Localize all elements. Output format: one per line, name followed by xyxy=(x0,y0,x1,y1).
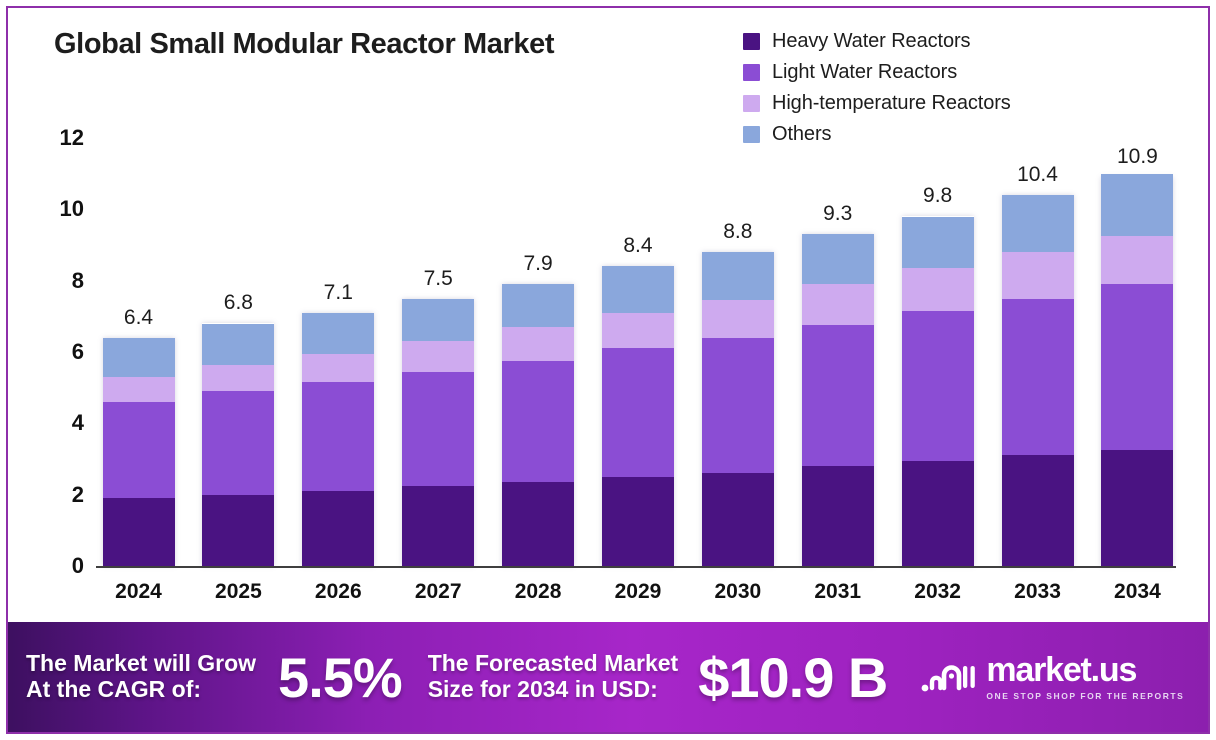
y-axis-tick-label: 4 xyxy=(72,410,84,436)
bar-segment[interactable] xyxy=(802,284,874,325)
legend-item-label: Light Water Reactors xyxy=(772,61,957,84)
bar-column[interactable]: 8.42029 xyxy=(599,138,676,566)
bar-segment[interactable] xyxy=(302,382,374,491)
x-axis-tick-label: 2027 xyxy=(415,580,462,604)
forecast-label-line2: Size for 2034 in USD: xyxy=(428,677,679,703)
bar-segment[interactable] xyxy=(1002,455,1074,566)
plot-area: 024681012 6.420246.820257.120267.520277.… xyxy=(100,138,1176,568)
bar-segment[interactable] xyxy=(1002,195,1074,252)
stacked-bar[interactable] xyxy=(802,234,874,566)
bar-value-label: 10.9 xyxy=(1117,145,1158,169)
bar-column[interactable]: 7.52027 xyxy=(400,138,477,566)
bar-segment[interactable] xyxy=(402,372,474,486)
market-us-logo-icon xyxy=(921,654,977,701)
bar-value-label: 8.8 xyxy=(723,220,752,244)
page-title: Global Small Modular Reactor Market xyxy=(54,28,554,61)
bar-column[interactable]: 8.82030 xyxy=(699,138,776,566)
y-axis-tick-label: 10 xyxy=(60,196,84,222)
bar-segment[interactable] xyxy=(602,348,674,476)
bar-segment[interactable] xyxy=(402,486,474,566)
bar-value-label: 9.3 xyxy=(823,202,852,226)
x-axis-tick-label: 2024 xyxy=(115,580,162,604)
x-axis-tick-label: 2028 xyxy=(515,580,562,604)
cagr-label-line1: The Market will Grow xyxy=(26,651,256,677)
bar-segment[interactable] xyxy=(1101,284,1173,450)
bar-column[interactable]: 9.82032 xyxy=(899,138,976,566)
bar-segment[interactable] xyxy=(202,324,274,365)
legend-item-label: Heavy Water Reactors xyxy=(772,30,970,53)
infographic-page: Global Small Modular Reactor Market Heav… xyxy=(6,6,1210,734)
cagr-value: 5.5% xyxy=(278,645,402,710)
bar-value-label: 7.1 xyxy=(324,281,353,305)
bar-value-label: 6.8 xyxy=(224,291,253,315)
bar-segment[interactable] xyxy=(702,473,774,566)
x-axis-line xyxy=(96,566,1176,568)
bar-segment[interactable] xyxy=(602,266,674,312)
stacked-bar[interactable] xyxy=(902,216,974,566)
legend-swatch-icon xyxy=(743,33,760,50)
bar-segment[interactable] xyxy=(702,338,774,474)
chart-area: Global Small Modular Reactor Market Heav… xyxy=(8,8,1208,622)
x-axis-tick-label: 2025 xyxy=(215,580,262,604)
bar-segment[interactable] xyxy=(502,284,574,327)
legend-item[interactable]: Heavy Water Reactors xyxy=(743,30,1011,52)
bar-segment[interactable] xyxy=(502,482,574,566)
x-axis-tick-label: 2026 xyxy=(315,580,362,604)
bar-segment[interactable] xyxy=(202,495,274,566)
bar-column[interactable]: 10.42033 xyxy=(999,138,1076,566)
stacked-bar[interactable] xyxy=(502,284,574,566)
bar-segment[interactable] xyxy=(802,325,874,466)
chart-legend: Heavy Water ReactorsLight Water Reactors… xyxy=(743,30,1011,145)
x-axis-tick-label: 2032 xyxy=(914,580,961,604)
bar-value-label: 8.4 xyxy=(623,234,652,258)
market-us-logo: market.us ONE STOP SHOP FOR THE REPORTS xyxy=(921,653,1184,701)
x-axis-tick-label: 2031 xyxy=(814,580,861,604)
stacked-bar[interactable] xyxy=(402,299,474,567)
bar-segment[interactable] xyxy=(902,268,974,311)
y-axis-tick-label: 0 xyxy=(72,553,84,579)
bar-segment[interactable] xyxy=(1002,299,1074,456)
bar-column[interactable]: 7.12026 xyxy=(300,138,377,566)
bar-segment[interactable] xyxy=(502,361,574,482)
y-axis-tick-label: 8 xyxy=(72,268,84,294)
bar-segment[interactable] xyxy=(602,313,674,349)
bar-segment[interactable] xyxy=(302,313,374,354)
bar-segment[interactable] xyxy=(702,300,774,337)
bar-segment[interactable] xyxy=(802,466,874,566)
forecast-label: The Forecasted Market Size for 2034 in U… xyxy=(428,651,679,703)
stacked-bar[interactable] xyxy=(1101,177,1173,566)
bar-value-label: 9.8 xyxy=(923,184,952,208)
bar-segment[interactable] xyxy=(103,338,175,377)
x-axis-tick-label: 2029 xyxy=(615,580,662,604)
stacked-bar[interactable] xyxy=(702,252,774,566)
legend-item[interactable]: Light Water Reactors xyxy=(743,61,1011,83)
bar-segment[interactable] xyxy=(202,391,274,494)
cagr-label-line2: At the CAGR of: xyxy=(26,677,256,703)
forecast-value: $10.9 B xyxy=(698,645,887,710)
legend-swatch-icon xyxy=(743,95,760,112)
y-axis-tick-label: 12 xyxy=(60,125,84,151)
bar-column[interactable]: 6.42024 xyxy=(100,138,177,566)
y-axis-tick-label: 6 xyxy=(72,339,84,365)
bar-segment[interactable] xyxy=(902,461,974,566)
logo-text: market.us ONE STOP SHOP FOR THE REPORTS xyxy=(986,653,1184,701)
bar-segment[interactable] xyxy=(602,477,674,566)
bar-segment[interactable] xyxy=(402,341,474,371)
bar-segment[interactable] xyxy=(1002,252,1074,298)
bar-segment[interactable] xyxy=(202,365,274,392)
bar-column[interactable]: 6.82025 xyxy=(200,138,277,566)
bar-segment[interactable] xyxy=(302,491,374,566)
bar-segment[interactable] xyxy=(302,354,374,383)
bar-value-label: 10.4 xyxy=(1017,163,1058,187)
bar-segment[interactable] xyxy=(902,217,974,269)
stacked-bar[interactable] xyxy=(1002,195,1074,566)
logo-tagline: ONE STOP SHOP FOR THE REPORTS xyxy=(986,691,1184,701)
forecast-label-line1: The Forecasted Market xyxy=(428,651,679,677)
bar-value-label: 7.5 xyxy=(424,267,453,291)
bar-group: 6.420246.820257.120267.520277.920288.420… xyxy=(100,138,1176,566)
x-axis-tick-label: 2030 xyxy=(714,580,761,604)
bar-segment[interactable] xyxy=(802,234,874,284)
bar-column[interactable]: 10.92034 xyxy=(1099,138,1176,566)
bar-segment[interactable] xyxy=(103,498,175,566)
bar-segment[interactable] xyxy=(702,252,774,300)
stacked-bar[interactable] xyxy=(602,266,674,566)
bar-segment[interactable] xyxy=(103,402,175,498)
bar-segment[interactable] xyxy=(902,311,974,461)
bar-segment[interactable] xyxy=(1101,174,1173,236)
stacked-bar[interactable] xyxy=(103,338,175,566)
cagr-label: The Market will Grow At the CAGR of: xyxy=(26,651,256,703)
bar-segment[interactable] xyxy=(103,377,175,402)
bar-segment[interactable] xyxy=(1101,450,1173,566)
logo-name: market.us xyxy=(986,653,1184,687)
legend-item-label: High-temperature Reactors xyxy=(772,92,1011,115)
bar-segment[interactable] xyxy=(502,327,574,361)
bar-value-label: 6.4 xyxy=(124,306,153,330)
x-axis-tick-label: 2033 xyxy=(1014,580,1061,604)
bar-segment[interactable] xyxy=(1101,236,1173,284)
y-axis-tick-label: 2 xyxy=(72,482,84,508)
bar-segment[interactable] xyxy=(402,299,474,342)
bar-value-label: 7.9 xyxy=(523,252,552,276)
legend-item[interactable]: High-temperature Reactors xyxy=(743,92,1011,114)
stacked-bar[interactable] xyxy=(202,323,274,566)
summary-banner: The Market will Grow At the CAGR of: 5.5… xyxy=(8,622,1208,732)
bar-column[interactable]: 7.92028 xyxy=(500,138,577,566)
bar-column[interactable]: 9.32031 xyxy=(799,138,876,566)
stacked-bar[interactable] xyxy=(302,313,374,566)
legend-swatch-icon xyxy=(743,64,760,81)
x-axis-tick-label: 2034 xyxy=(1114,580,1161,604)
